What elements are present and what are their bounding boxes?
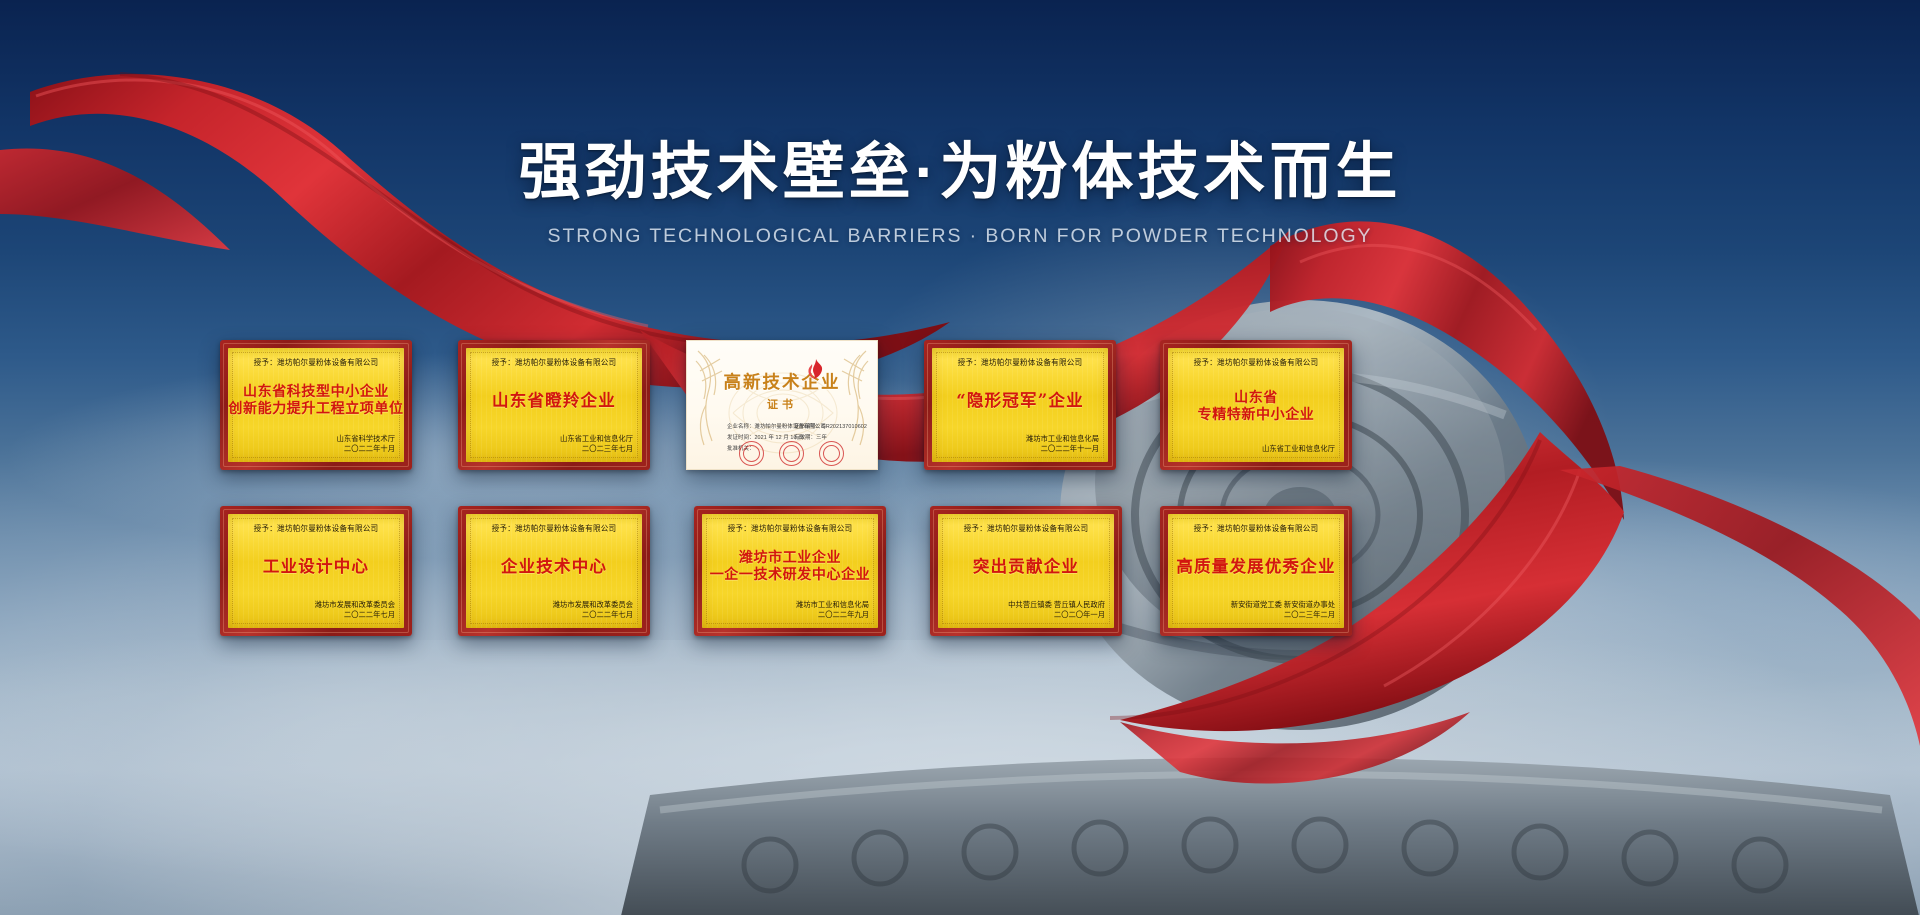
plaque-issuer: 潍坊市工业和信息化局二〇二二年九月 [796,600,871,621]
plaque-title-line: 创新能力提升工程立项单位 [228,401,403,418]
plaque-title: “隐形冠军”企业 [939,369,1101,434]
award-shandong-gazelle[interactable]: 授予：潍坊帕尔曼粉体设备有限公司山东省瞪羚企业山东省工业和信息化厅二〇二三年七月 [458,340,650,470]
plaque-title-line: 高质量发展优秀企业 [1176,557,1335,577]
plaque-issuer: 山东省工业和信息化厅 [1262,444,1337,455]
plaque-face: 授予：潍坊帕尔曼粉体设备有限公司突出贡献企业中共营丘镇委 营丘镇人民政府二〇二〇… [938,514,1114,628]
plaque-title: 山东省科技型中小企业创新能力提升工程立项单位 [235,369,397,434]
plaque-date: 二〇二二年九月 [796,610,869,621]
plaque-title-line: “隐形冠军”企业 [956,391,1084,411]
plaque-issuer-name: 潍坊市工业和信息化局 [1026,434,1099,445]
plaque-title-line: 山东省瞪羚企业 [492,391,616,411]
plaque-issuer-name: 潍坊市工业和信息化局 [796,600,869,611]
plaque-issuer-name: 山东省工业和信息化厅 [1262,444,1335,455]
plaque-grantee: 授予：潍坊帕尔曼粉体设备有限公司 [958,357,1083,368]
plaque-issuer: 潍坊市工业和信息化局二〇二二年十一月 [1026,434,1101,455]
plaque-issuer-name: 新安街道党工委 新安街道办事处 [1231,600,1335,611]
hero-banner: 强劲技术壁垒·为粉体技术而生 STRONG TECHNOLOGICAL BARR… [0,0,1920,915]
plaque-title-line: 一企一技术研发中心企业 [710,567,871,584]
plaque-date: 二〇二二年十月 [337,444,395,455]
plaque-issuer: 山东省工业和信息化厅二〇二三年七月 [560,434,635,455]
plaque-title-line: 突出贡献企业 [973,557,1079,577]
award-high-quality-development[interactable]: 授予：潍坊帕尔曼粉体设备有限公司高质量发展优秀企业新安街道党工委 新安街道办事处… [1160,506,1352,636]
plaque-issuer: 潍坊市发展和改革委员会二〇二二年七月 [553,600,635,621]
award-hidden-champion[interactable]: 授予：潍坊帕尔曼粉体设备有限公司“隐形冠军”企业潍坊市工业和信息化局二〇二二年十… [924,340,1116,470]
plaque-grantee: 授予：潍坊帕尔曼粉体设备有限公司 [1194,357,1319,368]
plaque-title-line: 专精特新中小企业 [1198,407,1315,424]
award-enterprise-tech-center[interactable]: 授予：潍坊帕尔曼粉体设备有限公司企业技术中心潍坊市发展和改革委员会二〇二二年七月 [458,506,650,636]
award-specialized-sme[interactable]: 授予：潍坊帕尔曼粉体设备有限公司山东省专精特新中小企业山东省工业和信息化厅 [1160,340,1352,470]
plaque-grantee: 授予：潍坊帕尔曼粉体设备有限公司 [964,523,1089,534]
plaque-grantee: 授予：潍坊帕尔曼粉体设备有限公司 [728,523,853,534]
plaque-issuer: 山东省科学技术厅二〇二二年十月 [337,434,397,455]
plaque-date: 二〇二二年七月 [315,610,395,621]
plaque-grantee: 授予：潍坊帕尔曼粉体设备有限公司 [1194,523,1319,534]
plaque-face: 授予：潍坊帕尔曼粉体设备有限公司山东省瞪羚企业山东省工业和信息化厅二〇二三年七月 [466,348,642,462]
plaque-issuer-name: 山东省工业和信息化厅 [560,434,633,445]
plaque-issuer: 新安街道党工委 新安街道办事处二〇二三年二月 [1231,600,1337,621]
plaque-face: 授予：潍坊帕尔曼粉体设备有限公司工业设计中心潍坊市发展和改革委员会二〇二二年七月 [228,514,404,628]
award-outstanding-contribution[interactable]: 授予：潍坊帕尔曼粉体设备有限公司突出贡献企业中共营丘镇委 营丘镇人民政府二〇二〇… [930,506,1122,636]
plaque-grantee: 授予：潍坊帕尔曼粉体设备有限公司 [254,357,379,368]
plaque-date: 二〇二二年七月 [553,610,633,621]
plaque-date: 二〇二〇年一月 [1008,610,1105,621]
plaque-title-line: 潍坊市工业企业 [739,550,841,567]
plaque-title: 企业技术中心 [473,535,635,600]
plaque-grantee: 授予：潍坊帕尔曼粉体设备有限公司 [492,357,617,368]
plaque-title-line: 山东省科技型中小企业 [243,384,389,401]
plaque-face: 授予：潍坊帕尔曼粉体设备有限公司山东省专精特新中小企业山东省工业和信息化厅 [1168,348,1344,462]
plaque-title: 山东省专精特新中小企业 [1175,369,1337,444]
plaque-issuer: 中共营丘镇委 营丘镇人民政府二〇二〇年一月 [1008,600,1107,621]
plaque-title-line: 山东省 [1234,390,1278,407]
plaque-issuer-name: 潍坊市发展和改革委员会 [315,600,395,611]
page-title: 强劲技术壁垒·为粉体技术而生 [0,138,1920,207]
plaque-title: 突出贡献企业 [945,535,1107,600]
plaque-face: 授予：潍坊帕尔曼粉体设备有限公司高质量发展优秀企业新安街道党工委 新安街道办事处… [1168,514,1344,628]
award-industrial-design-center[interactable]: 授予：潍坊帕尔曼粉体设备有限公司工业设计中心潍坊市发展和改革委员会二〇二二年七月 [220,506,412,636]
plaque-face: 授予：潍坊帕尔曼粉体设备有限公司山东省科技型中小企业创新能力提升工程立项单位山东… [228,348,404,462]
plaque-date: 二〇二三年二月 [1231,610,1335,621]
plaque-issuer-name: 潍坊市发展和改革委员会 [553,600,633,611]
plaque-grantee: 授予：潍坊帕尔曼粉体设备有限公司 [492,523,617,534]
hero-text-block: 强劲技术壁垒·为粉体技术而生 STRONG TECHNOLOGICAL BARR… [0,138,1920,248]
page-subtitle: STRONG TECHNOLOGICAL BARRIERS · BORN FOR… [0,225,1920,248]
plaque-title-line: 工业设计中心 [263,557,369,577]
plaque-title-line: 企业技术中心 [501,557,607,577]
plaque-face: 授予：潍坊帕尔曼粉体设备有限公司潍坊市工业企业一企一技术研发中心企业潍坊市工业和… [702,514,878,628]
plaque-title: 潍坊市工业企业一企一技术研发中心企业 [709,535,871,600]
plaque-date: 二〇二二年十一月 [1026,444,1099,455]
award-sdkjx-innovation[interactable]: 授予：潍坊帕尔曼粉体设备有限公司山东省科技型中小企业创新能力提升工程立项单位山东… [220,340,412,470]
plaque-title: 工业设计中心 [235,535,397,600]
plaque-issuer-name: 山东省科学技术厅 [337,434,395,445]
plaque-issuer: 潍坊市发展和改革委员会二〇二二年七月 [315,600,397,621]
plaque-face: 授予：潍坊帕尔曼粉体设备有限公司“隐形冠军”企业潍坊市工业和信息化局二〇二二年十… [932,348,1108,462]
award-weifang-rd-center[interactable]: 授予：潍坊帕尔曼粉体设备有限公司潍坊市工业企业一企一技术研发中心企业潍坊市工业和… [694,506,886,636]
plaque-title: 高质量发展优秀企业 [1175,535,1337,600]
plaque-grantee: 授予：潍坊帕尔曼粉体设备有限公司 [254,523,379,534]
plaque-title: 山东省瞪羚企业 [473,369,635,434]
plaque-face: 授予：潍坊帕尔曼粉体设备有限公司企业技术中心潍坊市发展和改革委员会二〇二二年七月 [466,514,642,628]
plaque-date: 二〇二三年七月 [560,444,633,455]
plaque-issuer-name: 中共营丘镇委 营丘镇人民政府 [1008,600,1105,611]
